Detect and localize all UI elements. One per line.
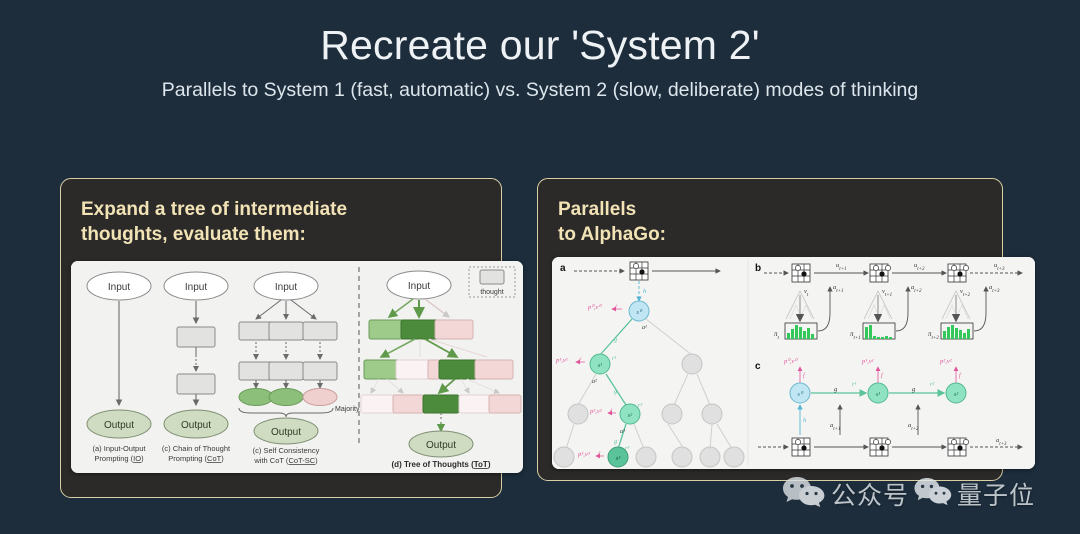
panel-tree-of-thoughts: Expand a tree of intermediate thoughts, … (60, 178, 502, 498)
panel-heading-alphago: Parallels to AlphaGo: (558, 197, 988, 247)
svg-text:p³,v³: p³,v³ (577, 451, 591, 458)
svg-text:p¹,v¹: p¹,v¹ (861, 358, 874, 365)
svg-text:h: h (643, 288, 646, 295)
svg-text:with CoT (CoT-SC): with CoT (CoT-SC) (253, 456, 318, 465)
svg-text:r³: r³ (625, 446, 629, 452)
panel-heading-tree-of-thoughts: Expand a tree of intermediate thoughts, … (81, 197, 487, 247)
svg-text:thought: thought (480, 289, 503, 296)
svg-text:r¹: r¹ (852, 382, 856, 388)
page-title: Recreate our 'System 2' (0, 22, 1080, 69)
svg-text:c: c (755, 361, 761, 372)
svg-text:p⁰,v⁰: p⁰,v⁰ (587, 304, 602, 311)
svg-text:p²,v²: p²,v² (939, 358, 953, 365)
svg-text:h: h (803, 417, 806, 424)
svg-text:Input: Input (275, 282, 297, 293)
svg-text:g: g (614, 389, 617, 395)
svg-text:Output: Output (104, 420, 134, 431)
svg-text:p²,v²: p²,v² (589, 408, 603, 415)
svg-text:Output: Output (271, 427, 301, 438)
svg-text:r²: r² (930, 382, 934, 388)
panel-alphago: Parallels to AlphaGo: (537, 178, 1003, 481)
svg-text:Input: Input (408, 281, 430, 292)
watermark-text-left: 公众号 (831, 476, 909, 512)
svg-text:r¹: r¹ (612, 356, 616, 362)
svg-text:(a) Input-Output: (a) Input-Output (93, 444, 147, 453)
watermark-text-right: 量子位 (957, 476, 1035, 512)
muzero-alphago-figure: a h s⁰ p⁰,v⁰ f a¹ g s¹ r¹ p¹,v¹ (552, 257, 1035, 469)
svg-text:(c) Self Consistency: (c) Self Consistency (253, 446, 320, 455)
page-subtitle: Parallels to System 1 (fast, automatic) … (0, 78, 1080, 104)
svg-text:Input: Input (185, 282, 207, 293)
svg-text:b: b (755, 263, 761, 274)
tree-of-thoughts-figure: Input Output (a) Input-Output Prompting … (71, 261, 523, 473)
svg-text:a: a (560, 263, 566, 274)
svg-text:Input: Input (108, 282, 130, 293)
svg-text:p⁰,v⁰: p⁰,v⁰ (783, 358, 798, 365)
svg-text:p¹,v¹: p¹,v¹ (555, 357, 568, 364)
svg-text:r²: r² (638, 403, 642, 409)
svg-text:a³: a³ (620, 429, 625, 435)
svg-text:s¹: s¹ (598, 362, 603, 369)
title-block: Recreate our 'System 2' Parallels to Sys… (0, 22, 1080, 104)
svg-text:s¹: s¹ (876, 391, 881, 398)
svg-text:(c) Chain of Thought: (c) Chain of Thought (162, 444, 231, 453)
svg-text:g: g (614, 337, 617, 343)
svg-text:Output: Output (426, 440, 456, 451)
svg-text:g: g (614, 439, 617, 445)
svg-text:Prompting (CoT): Prompting (CoT) (168, 454, 224, 463)
svg-text:a¹: a¹ (642, 325, 647, 331)
svg-text:Output: Output (181, 420, 211, 431)
wechat-icon-secondary (914, 477, 952, 512)
svg-text:Prompting (IO): Prompting (IO) (94, 454, 144, 463)
svg-text:(d) Tree of Thoughts (ToT): (d) Tree of Thoughts (ToT) (392, 460, 491, 469)
svg-text:a²: a² (592, 379, 597, 385)
